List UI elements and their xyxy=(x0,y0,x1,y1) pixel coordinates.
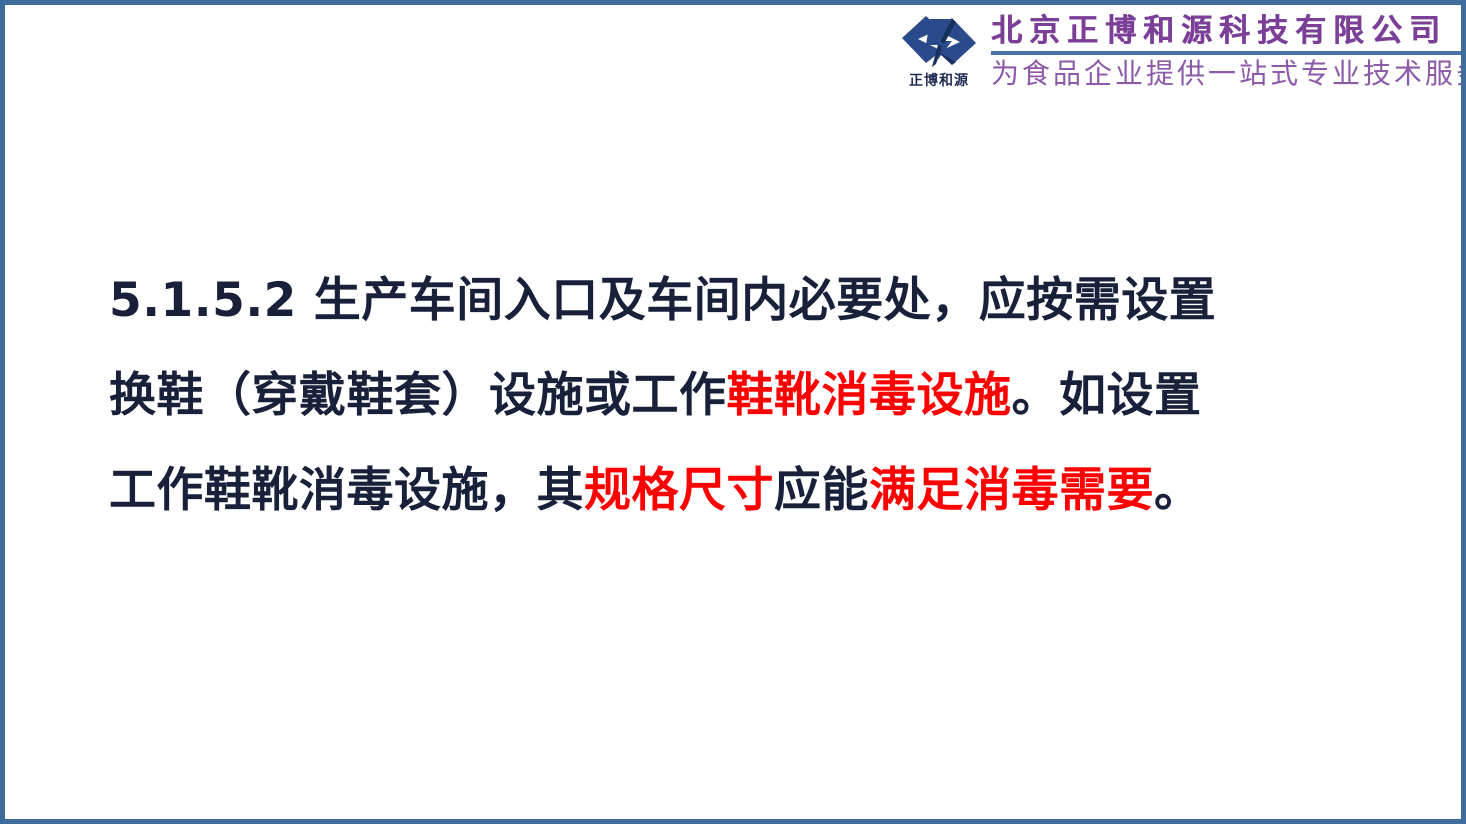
company-logo-block: 正博和源 xyxy=(891,7,987,88)
body-line-2-segment-1: 换鞋（穿戴鞋套）设施或工作 xyxy=(109,368,727,423)
body-line-1: 5.1.5.2 生产车间入口及车间内必要处，应按需设置 xyxy=(109,253,1369,348)
body-line-3-segment-4: 满足消毒需要 xyxy=(869,463,1154,518)
slide-body-text: 5.1.5.2 生产车间入口及车间内必要处，应按需设置 换鞋（穿戴鞋套）设施或工… xyxy=(109,253,1369,538)
letterhead-text-block: 北京正博和源科技有限公司 为食品企业提供一站式专业技术服务 xyxy=(987,7,1465,89)
company-name: 北京正博和源科技有限公司 xyxy=(991,15,1465,48)
body-line-3-segment-3: 应能 xyxy=(774,463,869,518)
body-line-2-segment-2: 鞋靴消毒设施 xyxy=(727,368,1012,423)
body-line-3-segment-2: 规格尺寸 xyxy=(584,463,774,518)
body-line-3-segment-5: 。 xyxy=(1154,463,1202,518)
company-logo-icon xyxy=(900,13,978,73)
body-line-2: 换鞋（穿戴鞋套）设施或工作鞋靴消毒设施。如设置 xyxy=(109,348,1369,443)
body-line-2-segment-3: 。如设置 xyxy=(1012,368,1202,423)
slide-canvas: 正博和源 北京正博和源科技有限公司 为食品企业提供一站式专业技术服务 5.1.5… xyxy=(0,0,1466,824)
body-line-1-segment-1: 5.1.5.2 生产车间入口及车间内必要处，应按需设置 xyxy=(109,273,1216,328)
body-line-3: 工作鞋靴消毒设施，其规格尺寸应能满足消毒需要。 xyxy=(109,443,1369,538)
letterhead-divider xyxy=(991,51,1466,55)
company-tagline: 为食品企业提供一站式专业技术服务 xyxy=(991,59,1465,90)
company-logo-caption: 正博和源 xyxy=(909,74,969,88)
body-line-3-segment-1: 工作鞋靴消毒设施，其 xyxy=(109,463,584,518)
letterhead-header: 正博和源 北京正博和源科技有限公司 为食品企业提供一站式专业技术服务 xyxy=(891,7,1465,115)
